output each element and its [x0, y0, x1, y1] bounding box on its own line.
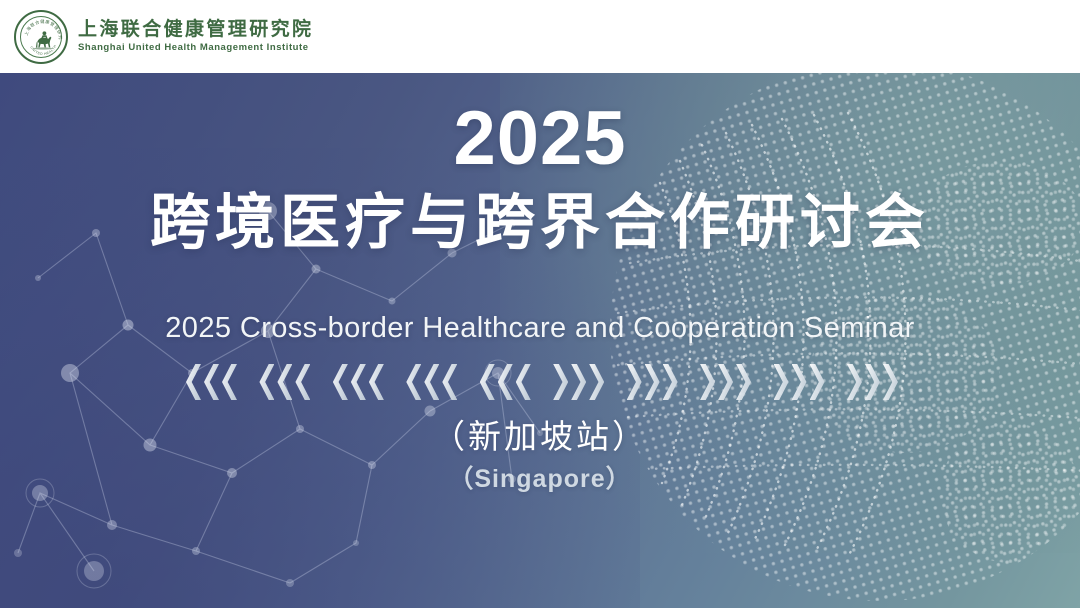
chevron-group-right: [627, 364, 678, 400]
chevron-group-left: [186, 364, 237, 400]
event-location-en: （Singapore）: [0, 465, 1080, 494]
chevron-right-icon: [700, 364, 715, 400]
chevron-right-icon: [571, 364, 586, 400]
chevron-group-left: [480, 364, 531, 400]
event-title-en: 2025 Cross-border Healthcare and Coopera…: [0, 313, 1080, 345]
chevron-left-icon: [259, 364, 274, 400]
chevron-right-icon: [553, 364, 568, 400]
chevron-right-icon: [865, 364, 880, 400]
chevron-right-icon: [847, 364, 862, 400]
chevron-right-icon: [718, 364, 733, 400]
chevron-right-icon: [736, 364, 751, 400]
event-year: 2025: [0, 101, 1080, 177]
institute-name-en: Shanghai United Health Management Instit…: [78, 43, 313, 53]
chevron-left-icon: [295, 364, 310, 400]
chevron-left-icon: [333, 364, 348, 400]
svg-text:上海联合健康管理研究院: 上海联合健康管理研究院: [16, 12, 64, 40]
chevron-group-left: [333, 364, 384, 400]
institute-seal-horse-rider-icon: 上海联合健康管理研究院 UNITED HEALTH: [14, 10, 68, 64]
chevron-right-icon: [663, 364, 678, 400]
chevron-right-icon: [774, 364, 789, 400]
chevron-left-icon: [204, 364, 219, 400]
chevron-left-icon: [480, 364, 495, 400]
chevron-right-icon: [645, 364, 660, 400]
svg-text:UNITED HEALTH: UNITED HEALTH: [29, 44, 57, 56]
chevron-group-left: [406, 364, 457, 400]
chevron-group-right: [700, 364, 751, 400]
chevron-group-right: [553, 364, 604, 400]
event-poster: 上海联合健康管理研究院 UNITED HEALTH 上海联合健康管理研究院: [0, 0, 1080, 608]
institute-logo: 上海联合健康管理研究院 UNITED HEALTH 上海联合健康管理研究院: [14, 10, 313, 64]
chevron-left-icon: [277, 364, 292, 400]
chevron-right-icon: [627, 364, 642, 400]
chevron-left-icon: [222, 364, 237, 400]
poster-banner: 2025 跨境医疗与跨界合作研讨会 2025 Cross-border Heal…: [0, 73, 1080, 608]
chevron-divider: [186, 361, 898, 403]
chevron-group-right: [847, 364, 898, 400]
chevron-right-icon: [883, 364, 898, 400]
chevron-left-icon: [351, 364, 366, 400]
chevron-left-icon: [186, 364, 201, 400]
chevron-left-icon: [406, 364, 421, 400]
chevron-left-icon: [498, 364, 513, 400]
chevron-left-icon: [516, 364, 531, 400]
chevron-group-left: [259, 364, 310, 400]
institute-logo-text: 上海联合健康管理研究院 Shanghai United Health Manag…: [78, 20, 313, 53]
event-location-cn: （新加坡站）: [0, 418, 1080, 456]
chevron-left-icon: [424, 364, 439, 400]
chevron-left-icon: [442, 364, 457, 400]
poster-header: 上海联合健康管理研究院 UNITED HEALTH 上海联合健康管理研究院: [0, 0, 1080, 73]
chevron-group-right: [774, 364, 825, 400]
chevron-right-icon: [792, 364, 807, 400]
chevron-right-icon: [589, 364, 604, 400]
chevron-left-icon: [369, 364, 384, 400]
event-title-cn: 跨境医疗与跨界合作研讨会: [0, 191, 1080, 254]
institute-name-cn: 上海联合健康管理研究院: [78, 20, 313, 41]
chevron-right-icon: [810, 364, 825, 400]
